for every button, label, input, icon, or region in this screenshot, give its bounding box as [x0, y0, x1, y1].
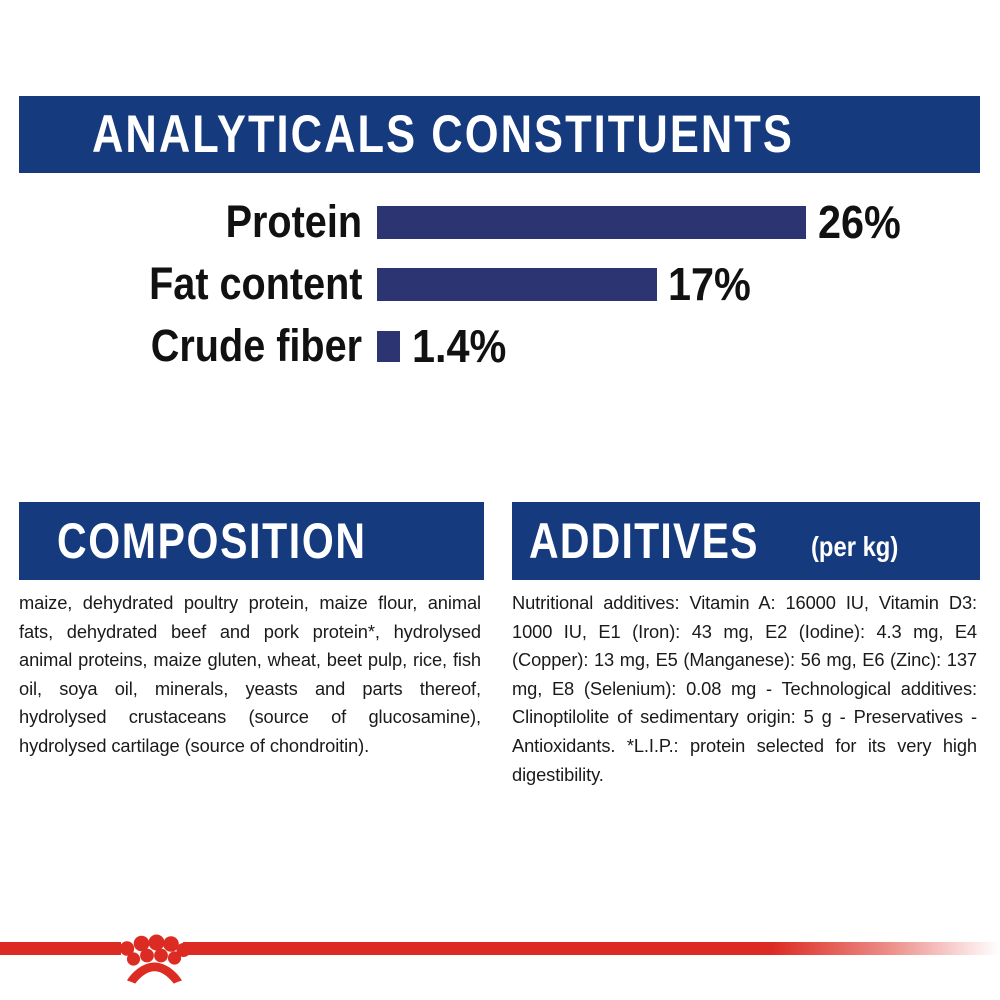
bar-fat-content — [377, 268, 657, 301]
section-header-additives-title: ADDITIVES — [529, 512, 759, 570]
section-header-composition-title: COMPOSITION — [57, 512, 367, 570]
nutrition-label-panel: ANALYTICALS CONSTITUENTS Protein 26% Fat… — [0, 0, 1000, 1000]
chart-row: Crude fiber 1.4% — [0, 317, 1000, 375]
composition-body-text: maize, dehydrated poultry protein, maize… — [19, 589, 481, 761]
analyticals-bar-chart: Protein 26% Fat content 17% Crude fiber … — [0, 193, 1000, 388]
section-header-additives: ADDITIVES (per kg) — [512, 502, 980, 580]
footer-rule-left — [0, 942, 121, 955]
bar-category-label: Fat content — [149, 255, 362, 313]
bar-value-protein: 26% — [818, 193, 901, 251]
bar-crude-fiber — [377, 331, 400, 362]
royal-canin-crown-icon — [118, 918, 190, 988]
additives-body-text: Nutritional additives: Vitamin A: 16000 … — [512, 589, 977, 789]
bar-value-crude-fiber: 1.4% — [412, 317, 506, 375]
bar-value-fat-content: 17% — [668, 255, 751, 313]
bar-protein — [377, 206, 806, 239]
chart-row: Protein 26% — [0, 193, 1000, 251]
brand-footer — [0, 930, 1000, 1000]
section-header-analyticals: ANALYTICALS CONSTITUENTS — [19, 96, 980, 173]
footer-rule-right — [183, 942, 1000, 955]
bar-category-label: Crude fiber — [151, 317, 362, 375]
section-header-composition: COMPOSITION — [19, 502, 484, 580]
section-header-additives-suffix: (per kg) — [811, 531, 898, 563]
section-header-analyticals-title: ANALYTICALS CONSTITUENTS — [92, 104, 794, 165]
bar-category-label: Protein — [226, 193, 362, 251]
chart-row: Fat content 17% — [0, 255, 1000, 313]
